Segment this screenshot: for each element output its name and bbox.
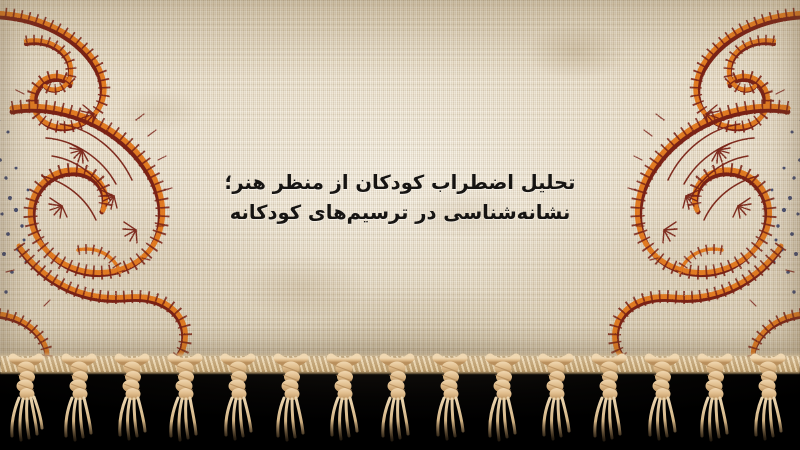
knotted-tassel-fringe — [0, 352, 800, 450]
page-title: تحلیل اضطراب کودکان از منظر هنر؛ نشانه‌ش… — [0, 168, 800, 228]
title-line-1: تحلیل اضطراب کودکان از منظر هنر؛ — [0, 168, 800, 198]
cover-artwork: تحلیل اضطراب کودکان از منظر هنر؛ نشانه‌ش… — [0, 0, 800, 450]
title-line-2: نشانه‌شناسی در ترسیم‌های کودکانه — [0, 198, 800, 228]
